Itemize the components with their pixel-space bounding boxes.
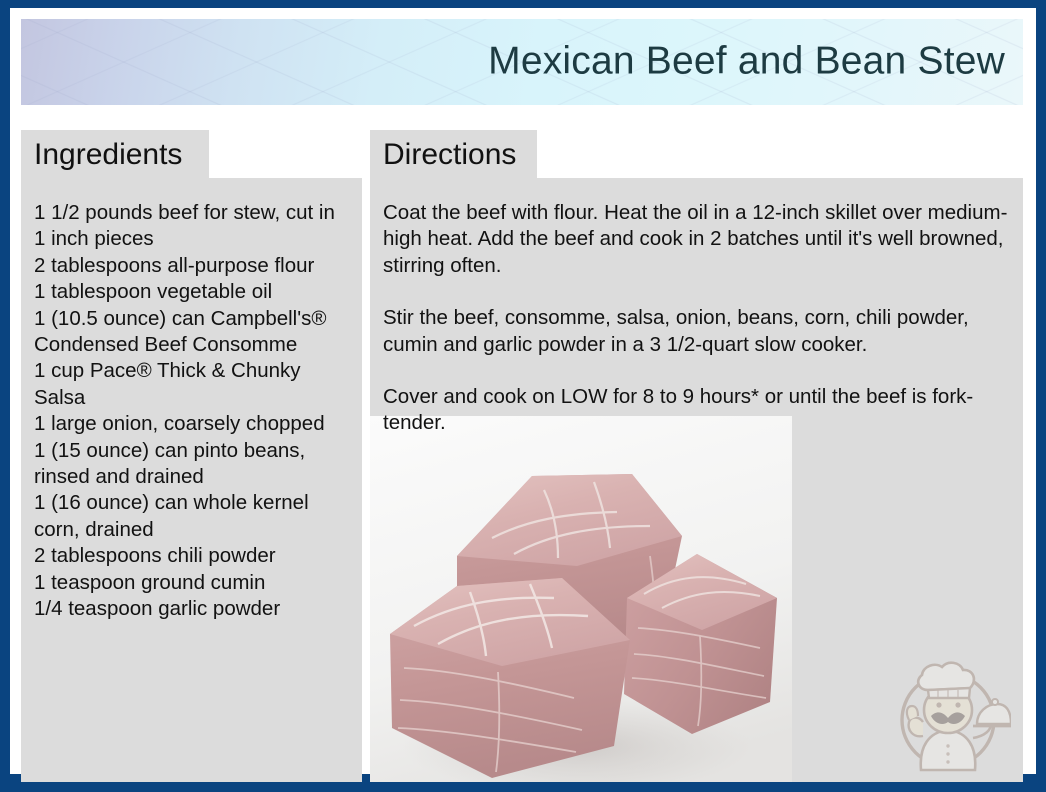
ingredient-line: Condensed Beef Consomme — [34, 332, 354, 358]
ingredients-tab-label: Ingredients — [34, 140, 182, 170]
direction-paragraph: Cover and cook on LOW for 8 to 9 hours* … — [383, 384, 1015, 437]
ingredient-line: 1 inch pieces — [34, 226, 354, 252]
ingredient-line: 1 teaspoon ground cumin — [34, 570, 354, 596]
direction-paragraph: Stir the beef, consomme, salsa, onion, b… — [383, 305, 1015, 358]
ingredients-panel: Ingredients 1 1/2 pounds beef for stew, … — [21, 130, 362, 782]
directions-paragraphs: Coat the beef with flour. Heat the oil i… — [383, 200, 1015, 437]
direction-paragraph: Coat the beef with flour. Heat the oil i… — [383, 200, 1015, 279]
ingredient-line: rinsed and drained — [34, 464, 354, 490]
ingredients-list: 1 1/2 pounds beef for stew, cut in1 inch… — [34, 200, 354, 623]
ingredient-line: 1 1/2 pounds beef for stew, cut in — [34, 200, 354, 226]
ingredient-line: 1 cup Pace® Thick & Chunky — [34, 358, 354, 384]
ingredient-line: 1 tablespoon vegetable oil — [34, 279, 354, 305]
directions-tab-label: Directions — [383, 140, 516, 170]
page-title: Mexican Beef and Bean Stew — [488, 41, 1005, 84]
directions-body: Coat the beef with flour. Heat the oil i… — [370, 178, 1023, 782]
beef-stew-cubes-photo — [370, 416, 792, 782]
ingredient-line: corn, drained — [34, 517, 354, 543]
ingredient-line: 1 (10.5 ounce) can Campbell's® — [34, 306, 354, 332]
ingredient-line: 1/4 teaspoon garlic powder — [34, 596, 354, 622]
ingredients-body: 1 1/2 pounds beef for stew, cut in1 inch… — [21, 178, 362, 782]
recipe-card: Mexican Beef and Bean Stew Ingredients 1… — [0, 0, 1046, 792]
ingredient-line: 1 (16 ounce) can whole kernel — [34, 490, 354, 516]
recipe-page: Mexican Beef and Bean Stew Ingredients 1… — [10, 8, 1036, 774]
ingredient-line: 1 large onion, coarsely chopped — [34, 411, 354, 437]
directions-panel: Directions — [370, 130, 1023, 782]
ingredients-tab[interactable]: Ingredients — [21, 130, 209, 178]
ingredient-line: Salsa — [34, 385, 354, 411]
ingredient-line: 2 tablespoons all-purpose flour — [34, 253, 354, 279]
directions-tab[interactable]: Directions — [370, 130, 537, 178]
ingredient-line: 1 (15 ounce) can pinto beans, — [34, 438, 354, 464]
title-banner: Mexican Beef and Bean Stew — [21, 19, 1023, 105]
ingredient-line: 2 tablespoons chili powder — [34, 543, 354, 569]
chef-mascot-logo — [885, 650, 1011, 776]
